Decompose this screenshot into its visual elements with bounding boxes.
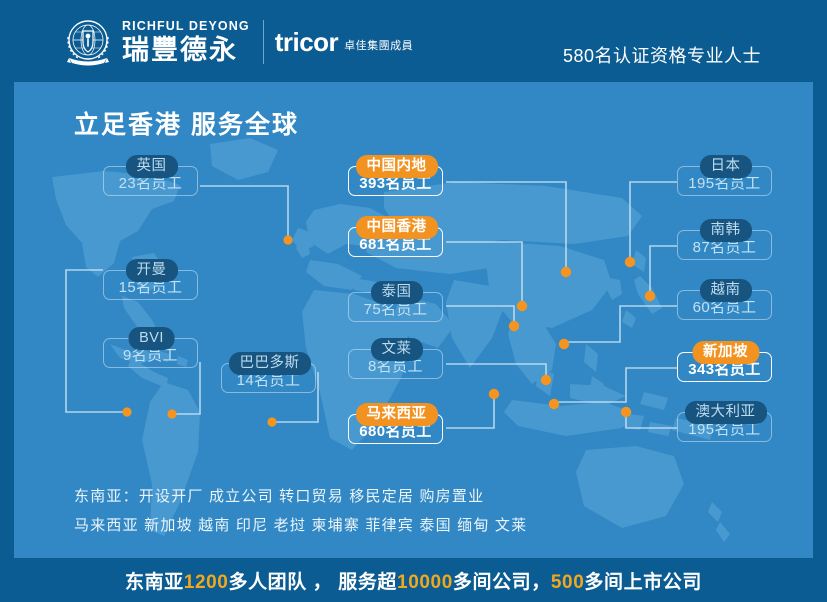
content-panel: 立足香港 服务全球 — [14, 82, 813, 558]
node-hong-kong-name: 中国香港 — [356, 216, 438, 239]
node-china-mainland-name: 中国内地 — [356, 155, 438, 178]
brand-text: RICHFUL DEYONG 瑞豐德永 — [122, 20, 250, 65]
node-singapore-name: 新加坡 — [692, 341, 759, 364]
header-stat: 580名认证资格专业人士 — [563, 42, 761, 68]
notes-line-1: 东南亚：开设开厂 成立公司 转口贸易 移民定居 购房置业 — [74, 482, 527, 511]
dot-japan — [625, 257, 635, 267]
brand-english: RICHFUL DEYONG — [122, 20, 250, 33]
node-thailand-name: 泰国 — [371, 281, 423, 304]
page-header: RICHFUL DEYONG 瑞豐德永 tricor 卓佳集團成員 580名认证… — [0, 0, 827, 82]
dot-barbados — [267, 417, 276, 426]
footer-number-companies: 10000 — [397, 572, 453, 593]
dot-southkorea — [645, 291, 655, 301]
dot-china — [561, 267, 571, 277]
page-footer: 东南亚1200多人团队 ， 服务超10000多间公司，500多间上市公司 — [0, 558, 827, 602]
footer-part-1: 东南亚 — [125, 572, 184, 593]
brand-divider — [263, 20, 264, 64]
tricor-wordmark: tricor — [275, 29, 338, 55]
brand-logo: RICHFUL DEYONG 瑞豐德永 tricor 卓佳集團成員 — [62, 17, 413, 67]
dot-thailand — [509, 321, 519, 331]
dot-malaysia — [489, 389, 499, 399]
node-vietnam-name: 越南 — [700, 279, 752, 302]
node-cayman-name: 开曼 — [126, 259, 178, 282]
footer-part-4: 多间上市公司 — [584, 572, 702, 593]
slide-root: RICHFUL DEYONG 瑞豐德永 tricor 卓佳集團成員 580名认证… — [0, 0, 827, 602]
footer-part-3: 多间公司， — [453, 572, 551, 593]
node-japan-name: 日本 — [700, 155, 752, 178]
node-barbados-name: 巴巴多斯 — [229, 352, 311, 375]
tricor-lockup: tricor 卓佳集團成員 — [275, 29, 413, 55]
dot-brunei — [541, 375, 551, 385]
dot-cayman — [122, 407, 131, 416]
node-brunei-name: 文莱 — [371, 338, 423, 361]
notes-block: 东南亚：开设开厂 成立公司 转口贸易 移民定居 购房置业 马来西亚 新加坡 越南… — [74, 482, 527, 540]
node-malaysia-name: 马来西亚 — [356, 403, 438, 426]
brand-chinese: 瑞豐德永 — [122, 35, 250, 65]
node-bvi-name: BVI — [128, 327, 175, 350]
dot-vietnam — [559, 339, 569, 349]
node-australia-name: 澳大利亚 — [685, 401, 767, 424]
richful-deyong-emblem-icon — [62, 17, 114, 67]
dot-hongkong — [517, 301, 527, 311]
footer-part-2: 多人团队 ， 服务超 — [228, 572, 397, 593]
dot-uk — [283, 235, 292, 244]
notes-line-2: 马来西亚 新加坡 越南 印尼 老挝 柬埔寨 菲律宾 泰国 缅甸 文莱 — [74, 511, 527, 540]
dot-australia — [621, 407, 631, 417]
footer-number-listed: 500 — [551, 572, 585, 593]
footer-summary: 东南亚1200多人团队 ， 服务超10000多间公司，500多间上市公司 — [125, 567, 702, 594]
node-south-korea-name: 南韩 — [700, 219, 752, 242]
dot-bvi — [167, 409, 176, 418]
footer-number-team: 1200 — [184, 572, 229, 593]
node-uk-name: 英国 — [126, 155, 178, 178]
tricor-subtitle: 卓佳集團成員 — [344, 39, 413, 53]
dot-singapore — [549, 399, 559, 409]
